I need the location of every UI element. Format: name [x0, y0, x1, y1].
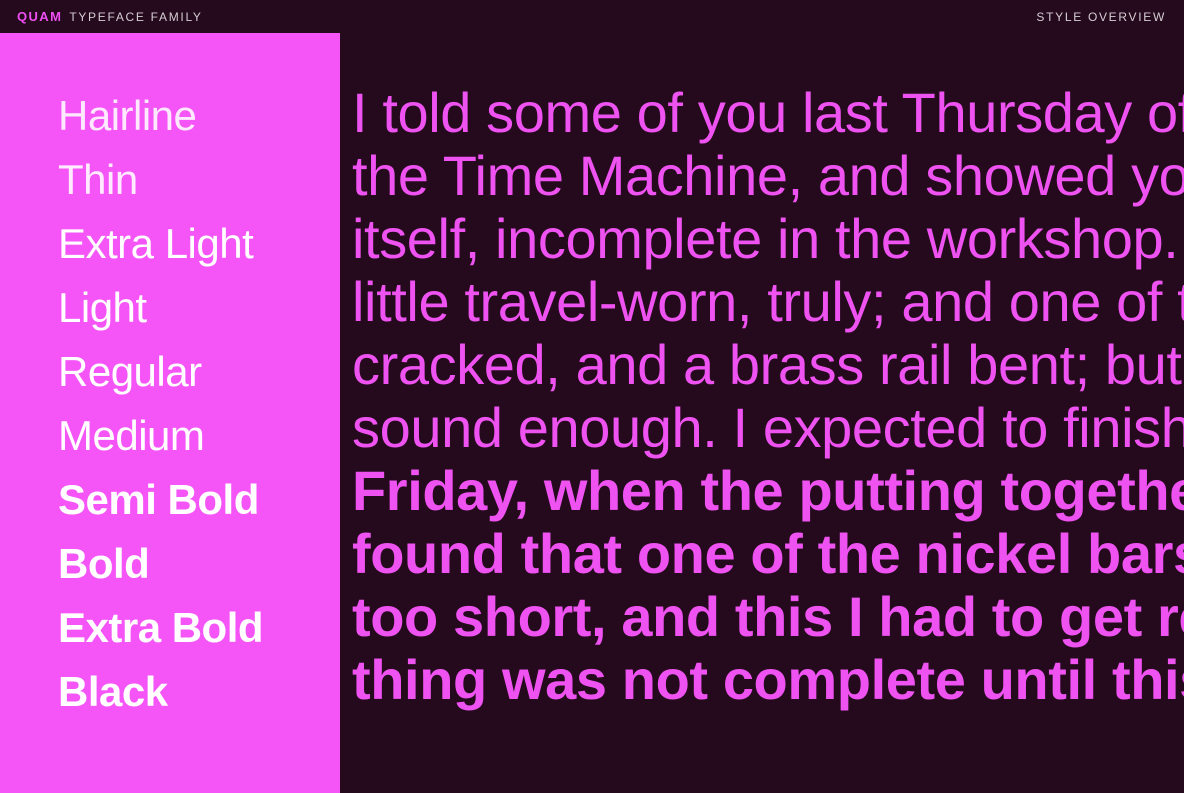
weight-item-semi-bold[interactable]: Semi Bold [58, 468, 340, 532]
typeface-specimen-page: QUAM TYPEFACE FAMILY STYLE OVERVIEW Hair… [0, 0, 1184, 793]
specimen-line-extra-light: itself, incomplete in the workshop. Th [352, 207, 1184, 270]
weight-sidebar: Hairline Thin Extra Light Light Regular … [0, 33, 340, 793]
brand-subtitle: TYPEFACE FAMILY [69, 11, 202, 23]
specimen-line-extra-bold: too short, and this I had to get remad [352, 585, 1184, 648]
specimen-line-hairline: I told some of you last Thursday of t [352, 81, 1184, 144]
weight-item-extra-bold[interactable]: Extra Bold [58, 596, 340, 660]
weight-item-extra-light[interactable]: Extra Light [58, 212, 340, 276]
brand-lockup: QUAM TYPEFACE FAMILY [17, 10, 203, 23]
page-header: QUAM TYPEFACE FAMILY STYLE OVERVIEW [0, 0, 1184, 33]
specimen-line-thin: the Time Machine, and showed you t [352, 144, 1184, 207]
specimen-line-semi-bold: Friday, when the putting together wa [352, 459, 1184, 522]
weight-item-thin[interactable]: Thin [58, 148, 340, 212]
weight-item-regular[interactable]: Regular [58, 340, 340, 404]
specimen-line-bold: found that one of the nickel bars wa [352, 522, 1184, 585]
brand-name: QUAM [17, 10, 62, 23]
weight-item-hairline[interactable]: Hairline [58, 84, 340, 148]
specimen-line-light: little travel-worn, truly; and one of th [352, 270, 1184, 333]
weight-item-light[interactable]: Light [58, 276, 340, 340]
specimen-line-medium: sound enough. I expected to finish it [352, 396, 1184, 459]
weight-list: Hairline Thin Extra Light Light Regular … [58, 84, 340, 724]
specimen-text-panel: I told some of you last Thursday of t th… [340, 33, 1184, 793]
specimen-line-black: thing was not complete until this mor [352, 648, 1184, 711]
weight-item-medium[interactable]: Medium [58, 404, 340, 468]
weight-item-black[interactable]: Black [58, 660, 340, 724]
header-section-label: STYLE OVERVIEW [1036, 11, 1166, 23]
weight-item-bold[interactable]: Bold [58, 532, 340, 596]
specimen-line-regular: cracked, and a brass rail bent; but th [352, 333, 1184, 396]
specimen-lines: I told some of you last Thursday of t th… [352, 81, 1184, 711]
